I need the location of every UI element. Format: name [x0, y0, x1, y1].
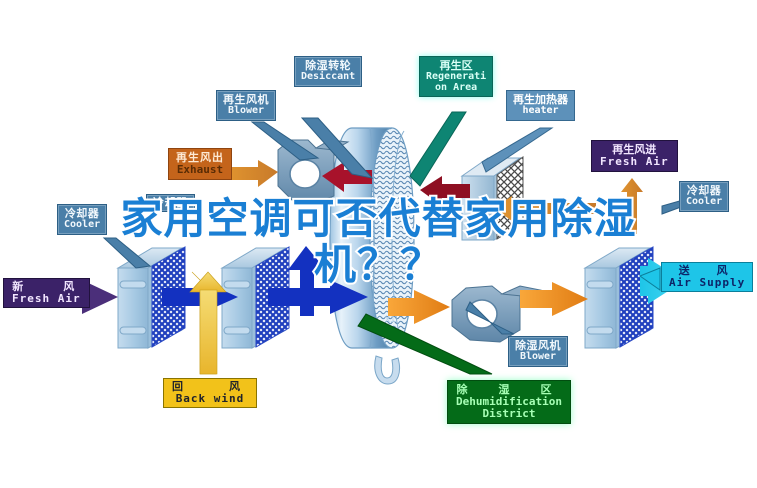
label-regen-fresh-air[interactable]: 再生风进 Fresh Air — [591, 140, 678, 172]
exhaust-arrow — [228, 160, 278, 187]
label-cooler-left[interactable]: 冷却器 Cooler — [57, 204, 107, 235]
label-back-wind-en: Back wind — [172, 393, 248, 405]
regen-up-arrow — [621, 178, 643, 234]
label-heater-en: heater — [513, 106, 568, 117]
label-cooler-right[interactable]: 冷却器 Cooler — [679, 181, 729, 212]
label-regen-blower[interactable]: 再生风机 Blower — [216, 90, 276, 121]
label-regen-blower-en: Blower — [223, 106, 269, 117]
label-desiccant-en: Desiccant — [301, 72, 355, 83]
label-dehum-en1: Dehumidification — [456, 396, 562, 408]
label-cooler-mid-cn: 冷却器 — [153, 197, 188, 209]
dehum-arrow-2 — [520, 282, 588, 316]
label-dehum-blower[interactable]: 除湿风机 Blower — [508, 336, 568, 367]
cooler-coil-3 — [585, 247, 653, 348]
label-regen-area-en2: on Area — [426, 83, 486, 94]
label-cooler-right-en: Cooler — [686, 197, 722, 208]
condensate-tray — [375, 356, 400, 384]
label-regen-exhaust[interactable]: 再生风出 Exhaust — [168, 148, 232, 180]
diagram-artwork: x1 — [0, 0, 757, 488]
label-dehum-district[interactable]: 除 湿 区 Dehumidification District — [447, 380, 571, 424]
label-cooler-mid[interactable]: 冷却器 — [146, 194, 195, 212]
back-wind-arrow — [190, 272, 226, 374]
label-cooler-left-en: Cooler — [64, 220, 100, 231]
label-regeneration-area[interactable]: 再生区 Regenerati on Area — [419, 56, 493, 97]
label-regen-heater[interactable]: 再生加热器 heater — [506, 90, 575, 121]
heater-coil — [462, 157, 523, 240]
label-dehum-en2: District — [456, 408, 562, 420]
diagram-canvas: x1 — [0, 0, 757, 488]
label-air-supply[interactable]: 送 风 Air Supply — [661, 262, 753, 292]
regen-intake-arrow — [494, 196, 596, 221]
label-air-supply-en: Air Supply — [669, 277, 745, 289]
label-dehum-blower-en: Blower — [515, 352, 561, 363]
label-fresh-air-en: Fresh Air — [12, 293, 81, 305]
label-fresh-air-in[interactable]: 新 风 Fresh Air — [3, 278, 90, 308]
label-desiccant-rotor[interactable]: 除湿转轮 Desiccant — [294, 56, 362, 87]
label-back-wind[interactable]: 回 风 Back wind — [163, 378, 257, 408]
label-exhaust-en: Exhaust — [176, 164, 224, 176]
label-regen-fresh-en: Fresh Air — [600, 156, 669, 168]
